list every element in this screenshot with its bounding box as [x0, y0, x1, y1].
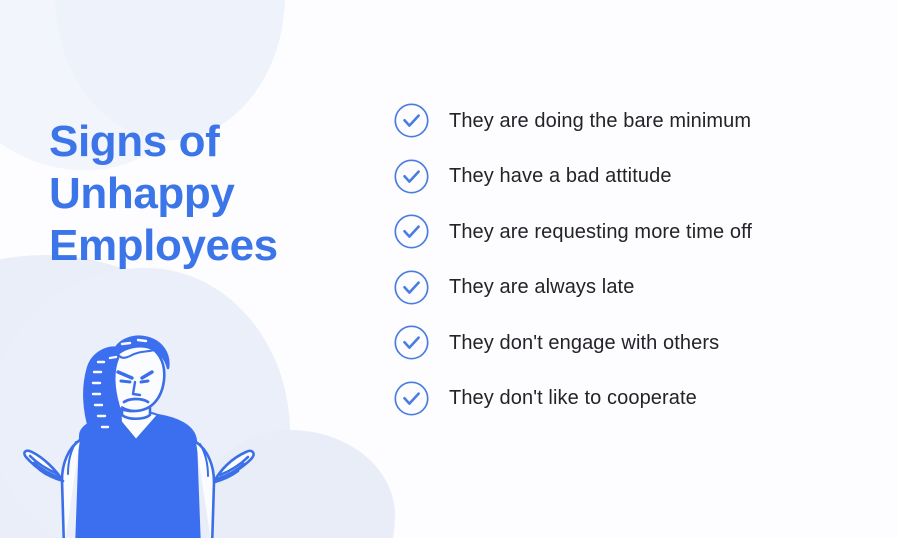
list-item-label: They are requesting more time off	[449, 220, 752, 244]
check-circle-icon	[393, 269, 430, 306]
check-circle-icon	[393, 380, 430, 417]
signs-checklist: They are doing the bare minimum They hav…	[393, 102, 863, 435]
check-circle-icon	[393, 102, 430, 139]
list-item-label: They are doing the bare minimum	[449, 109, 751, 133]
list-item[interactable]: They are doing the bare minimum	[393, 102, 863, 139]
list-item-label: They have a bad attitude	[449, 164, 672, 188]
list-item[interactable]: They are requesting more time off	[393, 213, 863, 250]
check-circle-icon	[393, 213, 430, 250]
list-item-label: They are always late	[449, 275, 634, 299]
list-item[interactable]: They don't like to cooperate	[393, 380, 863, 417]
list-item[interactable]: They don't engage with others	[393, 324, 863, 361]
check-circle-icon	[393, 324, 430, 361]
list-item-label: They don't like to cooperate	[449, 386, 697, 410]
shrugging-woman-illustration	[18, 318, 268, 538]
check-circle-icon	[393, 158, 430, 195]
list-item-label: They don't engage with others	[449, 331, 719, 355]
list-item[interactable]: They have a bad attitude	[393, 158, 863, 195]
page-title: Signs of Unhappy Employees	[49, 116, 349, 272]
slide-canvas: Signs of Unhappy Employees	[0, 0, 898, 538]
list-item[interactable]: They are always late	[393, 269, 863, 306]
